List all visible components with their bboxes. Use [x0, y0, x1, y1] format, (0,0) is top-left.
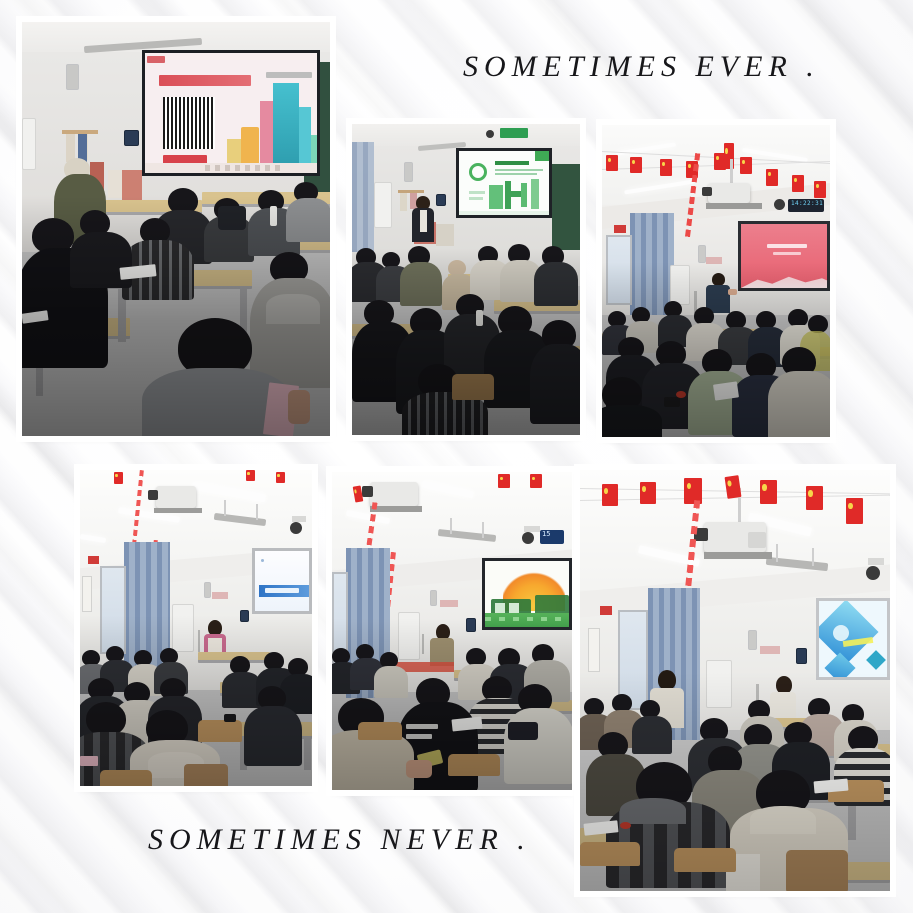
photo-classroom-green-slide-presenter [352, 124, 580, 435]
photo-classroom-cyan-slide-wide [580, 470, 890, 891]
caption-top: SOMETIMES EVER . [463, 50, 820, 84]
photo-classroom-red-flags-male-presenter: 14:22:31 [602, 125, 830, 437]
photo-classroom-sunrise-slide-students: 15 [332, 472, 572, 790]
photo-classroom-recruitment-talk-wide [22, 22, 330, 436]
photo-collage: 14:22:31 [0, 0, 913, 913]
caption-bottom: SOMETIMES NEVER . [148, 823, 531, 857]
photo-classroom-blue-slide-female-presenter [80, 470, 312, 786]
